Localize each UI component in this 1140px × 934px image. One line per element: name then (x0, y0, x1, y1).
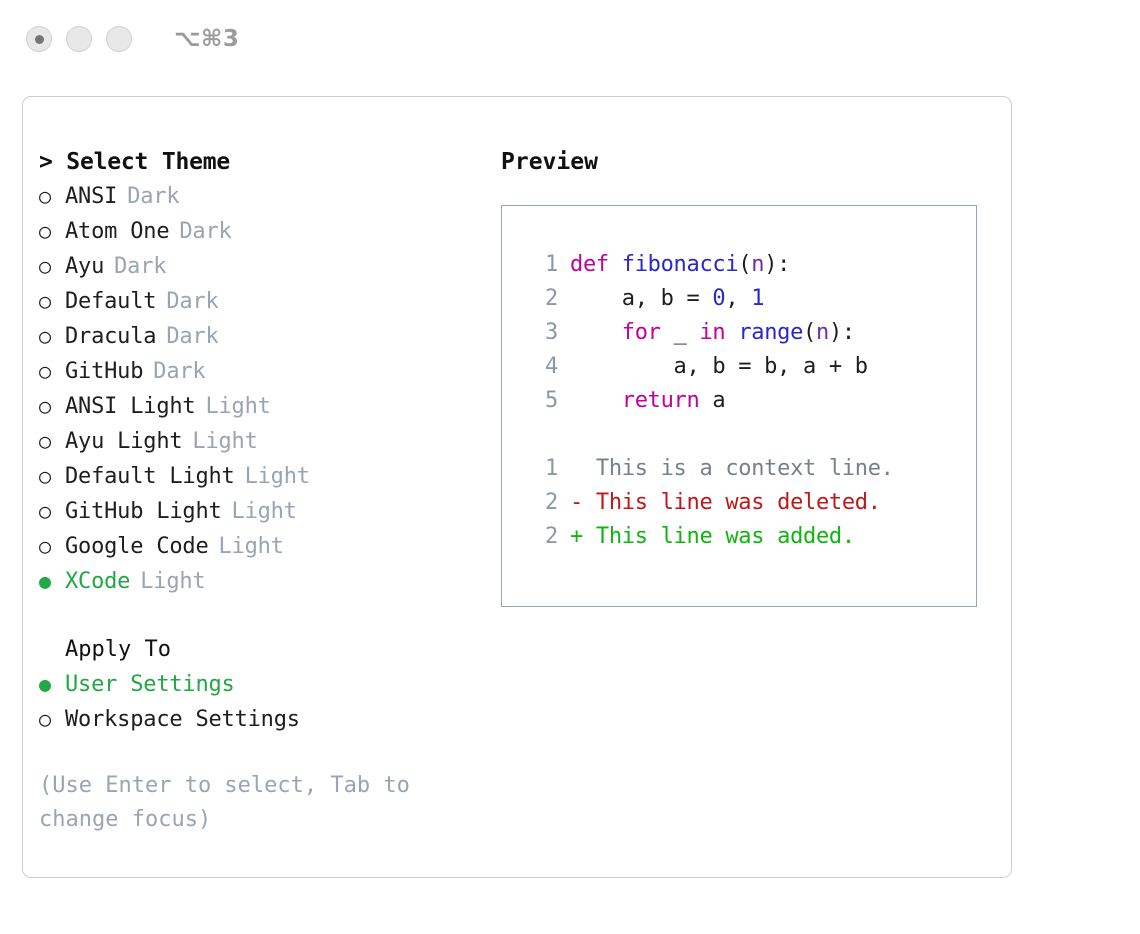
theme-option-xcode[interactable]: ●XCodeLight (39, 564, 479, 599)
theme-option-label: GitHub Light (65, 495, 222, 529)
theme-option-label: Default (65, 285, 156, 319)
keyboard-shortcut-label: ⌥⌘3 (174, 26, 239, 52)
theme-selector-panel: > Select Theme ○ANSIDark○Atom OneDark○Ay… (22, 96, 1012, 878)
apply-to-section: Apply To ●User Settings○Workspace Settin… (39, 633, 479, 737)
code-sample: 1def fibonacci(n):2 a, b = 0, 13 for _ i… (520, 248, 976, 418)
code-token: a, b = b, a + b (570, 354, 868, 379)
theme-option-default[interactable]: ○DefaultDark (39, 284, 479, 319)
radio-empty-icon: ○ (39, 319, 65, 353)
preview-heading: Preview (501, 145, 991, 179)
diff-line-number: 1 (520, 452, 570, 486)
apply-to-option-user-settings[interactable]: ●User Settings (39, 667, 479, 702)
window-dot-indicator (35, 35, 44, 44)
window-dot-active[interactable] (26, 26, 52, 52)
theme-option-ayu-light[interactable]: ○Ayu LightLight (39, 424, 479, 459)
code-token: ): (764, 252, 790, 277)
radio-empty-icon: ○ (39, 179, 65, 213)
window-titlebar: ⌥⌘3 (0, 0, 1140, 78)
code-token: 1 (751, 286, 764, 311)
radio-empty-icon: ○ (39, 284, 65, 318)
radio-empty-icon: ○ (39, 389, 65, 423)
apply-to-heading: Apply To (39, 633, 479, 667)
theme-option-label: Ayu Light (65, 425, 182, 459)
diff-line: 1 This is a context line. (520, 452, 976, 486)
code-token: in (699, 320, 725, 345)
code-line: 4 a, b = b, a + b (520, 350, 976, 384)
theme-option-label: Google Code (65, 530, 209, 564)
code-line-content: a, b = b, a + b (570, 350, 868, 384)
panel-body: > Select Theme ○ANSIDark○Atom OneDark○Ay… (23, 97, 1011, 877)
theme-option-github[interactable]: ○GitHubDark (39, 354, 479, 389)
radio-empty-icon: ○ (39, 354, 65, 388)
theme-option-tag: Dark (114, 250, 166, 284)
apply-to-option-label: Workspace Settings (65, 703, 300, 737)
theme-option-atom-one[interactable]: ○Atom OneDark (39, 214, 479, 249)
code-line-content: for _ in range(n): (570, 316, 855, 350)
theme-option-tag: Light (140, 565, 205, 599)
code-token: ( (738, 252, 751, 277)
radio-empty-icon: ○ (39, 459, 65, 493)
theme-option-label: Default Light (65, 460, 235, 494)
code-line: 3 for _ in range(n): (520, 316, 976, 350)
code-line-content: return a (570, 384, 725, 418)
code-token: return (622, 388, 700, 413)
theme-option-tag: Dark (179, 215, 231, 249)
code-line: 2 a, b = 0, 1 (520, 282, 976, 316)
code-token: n (816, 320, 829, 345)
theme-option-dracula[interactable]: ○DraculaDark (39, 319, 479, 354)
apply-to-options: ●User Settings○Workspace Settings (39, 667, 479, 737)
radio-selected-icon: ● (39, 667, 65, 701)
diff-sample: 1 This is a context line.2- This line wa… (520, 452, 976, 554)
theme-option-label: GitHub (65, 355, 143, 389)
select-theme-heading: > Select Theme (39, 145, 479, 179)
code-token: fibonacci (622, 252, 739, 277)
radio-empty-icon: ○ (39, 529, 65, 563)
code-line-number: 4 (520, 350, 570, 384)
theme-option-ansi-light[interactable]: ○ANSI LightLight (39, 389, 479, 424)
diff-line-content: + This line was added. (570, 520, 855, 554)
radio-selected-icon: ● (39, 564, 65, 598)
theme-option-tag: Light (245, 460, 310, 494)
theme-option-label: ANSI (65, 180, 117, 214)
code-token (725, 320, 738, 345)
theme-option-tag: Dark (166, 320, 218, 354)
code-token: _ (661, 320, 700, 345)
code-diff-separator (520, 418, 976, 452)
theme-option-label: Ayu (65, 250, 104, 284)
theme-option-tag: Light (205, 390, 270, 424)
theme-option-label: Dracula (65, 320, 156, 354)
radio-empty-icon: ○ (39, 494, 65, 528)
radio-empty-icon: ○ (39, 249, 65, 283)
code-token: 0 (712, 286, 725, 311)
theme-option-ayu[interactable]: ○AyuDark (39, 249, 479, 284)
keyboard-hint-text: (Use Enter to select, Tab to change focu… (39, 769, 439, 837)
theme-option-label: XCode (65, 565, 130, 599)
diff-line-content: - This line was deleted. (570, 486, 881, 520)
terminal-window: ⌥⌘3 > Select Theme ○ANSIDark○Atom OneDar… (0, 0, 1140, 934)
theme-option-tag: Dark (127, 180, 179, 214)
diff-line: 2- This line was deleted. (520, 486, 976, 520)
code-token: a (699, 388, 725, 413)
code-line-content: def fibonacci(n): (570, 248, 790, 282)
code-token: n (751, 252, 764, 277)
preview-column: Preview 1def fibonacci(n):2 a, b = 0, 13… (501, 145, 991, 607)
radio-empty-icon: ○ (39, 702, 65, 736)
code-token: def (570, 252, 622, 277)
theme-option-tag: Dark (166, 285, 218, 319)
theme-option-google-code[interactable]: ○Google CodeLight (39, 529, 479, 564)
theme-option-tag: Dark (153, 355, 205, 389)
theme-list: ○ANSIDark○Atom OneDark○AyuDark○DefaultDa… (39, 179, 479, 599)
theme-option-label: ANSI Light (65, 390, 195, 424)
code-line: 1def fibonacci(n): (520, 248, 976, 282)
theme-option-tag: Light (192, 425, 257, 459)
apply-to-option-label: User Settings (65, 668, 235, 702)
theme-option-ansi[interactable]: ○ANSIDark (39, 179, 479, 214)
preview-code-box: 1def fibonacci(n):2 a, b = 0, 13 for _ i… (501, 205, 977, 607)
radio-empty-icon: ○ (39, 214, 65, 248)
code-token: a, b = (570, 286, 712, 311)
code-line-content: a, b = 0, 1 (570, 282, 764, 316)
code-token: ): (829, 320, 855, 345)
window-dot-third[interactable] (106, 26, 132, 52)
code-token: for (622, 320, 661, 345)
diff-line-number: 2 (520, 486, 570, 520)
code-line-number: 3 (520, 316, 570, 350)
code-token: ( (803, 320, 816, 345)
window-dot-second[interactable] (66, 26, 92, 52)
theme-option-label: Atom One (65, 215, 169, 249)
theme-option-github-light[interactable]: ○GitHub LightLight (39, 494, 479, 529)
code-line: 5 return a (520, 384, 976, 418)
code-token: range (738, 320, 803, 345)
code-line-number: 5 (520, 384, 570, 418)
code-line-number: 2 (520, 282, 570, 316)
code-token: , (725, 286, 751, 311)
apply-to-option-workspace-settings[interactable]: ○Workspace Settings (39, 702, 479, 737)
diff-line-number: 2 (520, 520, 570, 554)
code-token (570, 388, 622, 413)
diff-line: 2+ This line was added. (520, 520, 976, 554)
code-token (570, 320, 622, 345)
radio-empty-icon: ○ (39, 424, 65, 458)
theme-option-default-light[interactable]: ○Default LightLight (39, 459, 479, 494)
theme-option-tag: Light (232, 495, 297, 529)
code-line-number: 1 (520, 248, 570, 282)
diff-line-content: This is a context line. (570, 452, 894, 486)
theme-option-tag: Light (219, 530, 284, 564)
theme-list-column: > Select Theme ○ANSIDark○Atom OneDark○Ay… (39, 145, 479, 837)
